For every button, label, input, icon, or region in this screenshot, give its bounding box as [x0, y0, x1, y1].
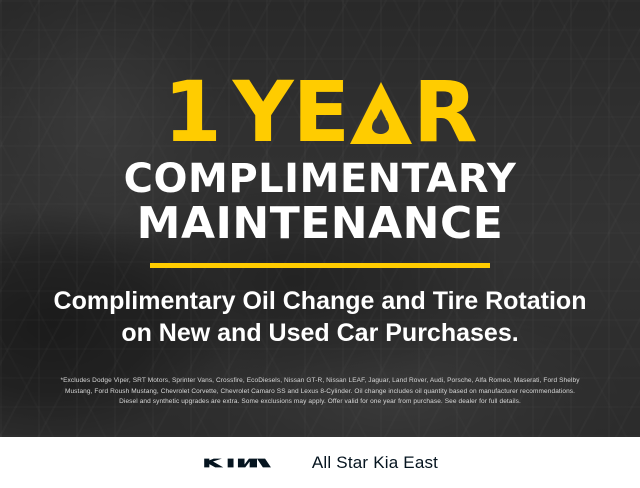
- offer-line-2: on New and Used Car Purchases.: [54, 317, 587, 349]
- headline-year-post: R: [413, 74, 477, 151]
- headline-one-year: 1YER: [163, 74, 476, 151]
- hero-content: 1YER COMPLIMENTARY MAINTENANCE Complimen…: [0, 0, 640, 437]
- headline-year-pre: YE: [233, 74, 349, 151]
- oil-drop-letter-a-icon: [350, 82, 412, 144]
- disclaimer-text: *Excludes Dodge Viper, SRT Motors, Sprin…: [0, 376, 640, 408]
- disclaimer-line-3: Diesel and synthetic upgrades are extra.…: [12, 397, 628, 408]
- yellow-divider-rule: [150, 263, 490, 268]
- disclaimer-line-1: *Excludes Dodge Viper, SRT Motors, Sprin…: [12, 376, 628, 387]
- hero-section: 1YER COMPLIMENTARY MAINTENANCE Complimen…: [0, 0, 640, 437]
- headline-number: 1: [163, 74, 220, 151]
- kia-logo-icon: [202, 452, 290, 474]
- subhead-complimentary: COMPLIMENTARY: [124, 159, 517, 200]
- subhead-maintenance: MAINTENANCE: [137, 202, 504, 247]
- dealer-name: All Star Kia East: [312, 453, 438, 473]
- offer-copy: Complimentary Oil Change and Tire Rotati…: [54, 285, 587, 349]
- offer-line-1: Complimentary Oil Change and Tire Rotati…: [54, 285, 587, 317]
- footer-brand-bar: All Star Kia East: [0, 437, 640, 488]
- promo-banner: 1YER COMPLIMENTARY MAINTENANCE Complimen…: [0, 0, 640, 488]
- disclaimer-line-2: Mustang, Ford Roush Mustang, Chevrolet C…: [12, 387, 628, 398]
